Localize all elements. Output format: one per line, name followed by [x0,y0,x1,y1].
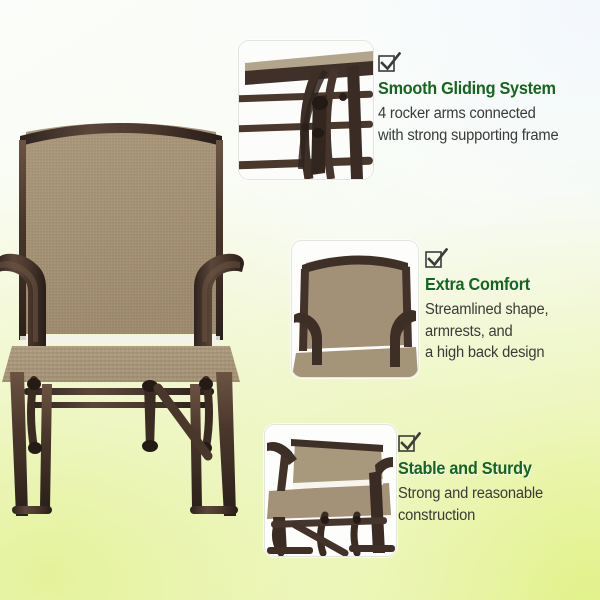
glider-base-closeup [265,425,396,556]
chair-illustration [0,96,246,526]
feature-body-line: armrests, and [425,321,591,342]
feature-title: Smooth Gliding System [378,78,584,98]
feature-title: Stable and Sturdy [398,458,586,478]
feature-body: Strong and reasonable construction [398,483,590,526]
feature-block-extra-comfort: Extra Comfort Streamlined shape, armrest… [425,248,600,363]
feature-body-line: construction [398,505,590,526]
feature-body: 4 rocker arms connected with strong supp… [378,103,589,146]
checkbox-checked-icon [378,52,401,73]
high-back-seat-closeup [292,241,418,377]
main-product-photo [0,96,246,526]
feature-body-line: with strong supporting frame [378,125,589,146]
feature-block-smooth-gliding-system: Smooth Gliding System 4 rocker arms conn… [378,52,600,146]
feature-body-line: a high back design [425,342,591,363]
feature-body-line: 4 rocker arms connected [378,103,589,124]
feature-inset-photo-extra-comfort [291,240,419,378]
feature-body-line: Streamlined shape, [425,299,591,320]
checkbox-checked-icon [398,432,421,453]
feature-title: Extra Comfort [425,274,588,294]
feature-body-line: Strong and reasonable [398,483,590,504]
feature-body: Streamlined shape, armrests, and a high … [425,299,591,363]
feature-inset-photo-stable-sturdy [264,424,397,557]
infographic-canvas: Smooth Gliding System 4 rocker arms conn… [0,0,600,600]
feature-inset-photo-gliding-system [238,40,374,180]
feature-block-stable-and-sturdy: Stable and Sturdy Strong and reasonable … [398,432,600,526]
gliding-system-closeup [239,41,373,179]
checkbox-checked-icon [425,248,448,269]
